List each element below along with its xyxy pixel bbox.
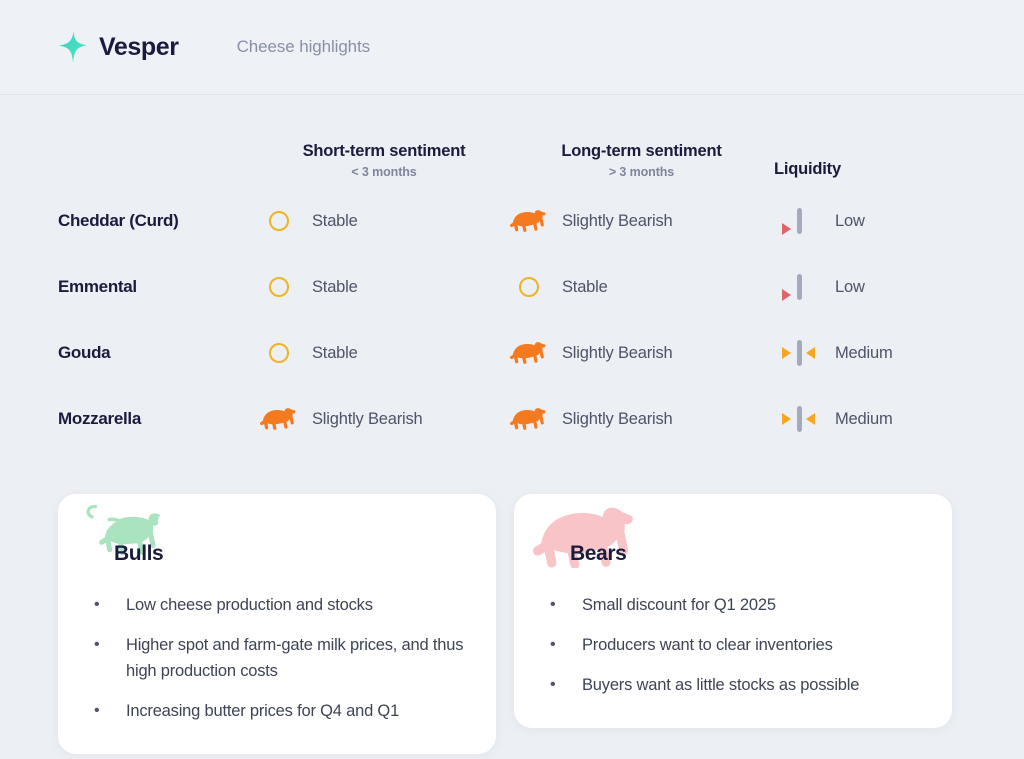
column-header-short-term: Short-term sentiment < 3 months	[259, 95, 509, 188]
bear-icon	[509, 403, 549, 435]
column-subtitle: < 3 months	[351, 165, 416, 179]
short-term-cell: Stable	[259, 320, 509, 386]
bears-card: Bears • Small discount for Q1 2025 • Pro…	[514, 494, 952, 728]
sentiment-label: Slightly Bearish	[562, 344, 673, 363]
sentiment-label: Slightly Bearish	[562, 410, 673, 429]
liquidity-cell: Low	[774, 188, 966, 254]
bear-icon	[509, 205, 549, 237]
bullet-marker: •	[544, 632, 582, 658]
product-name: Gouda	[58, 343, 110, 362]
bear-icon	[259, 403, 299, 435]
list-item-text: Low cheese production and stocks	[126, 592, 373, 618]
long-term-cell: Stable	[509, 254, 774, 320]
brand[interactable]: Vesper	[58, 31, 179, 63]
stable-circle-icon	[259, 271, 299, 303]
row-label-cell: Emmental	[58, 254, 259, 320]
liquidity-label: Low	[835, 278, 865, 297]
list-item-text: Producers want to clear inventories	[582, 632, 833, 658]
column-subtitle: > 3 months	[609, 165, 674, 179]
column-title: Long-term sentiment	[561, 142, 721, 161]
sentiment-label: Slightly Bearish	[562, 212, 673, 231]
brand-name: Vesper	[99, 33, 179, 62]
liquidity-cell: Medium	[774, 320, 966, 386]
bulls-list: • Low cheese production and stocks • Hig…	[88, 592, 466, 724]
list-item: • Producers want to clear inventories	[544, 632, 922, 658]
liquidity-low-icon	[774, 267, 822, 307]
bears-list: • Small discount for Q1 2025 • Producers…	[544, 592, 922, 698]
list-item-text: Increasing butter prices for Q4 and Q1	[126, 698, 399, 724]
liquidity-label: Medium	[835, 410, 893, 429]
stable-circle-icon	[509, 271, 549, 303]
product-name: Mozzarella	[58, 409, 141, 428]
stable-circle-icon	[259, 337, 299, 369]
short-term-cell: Stable	[259, 188, 509, 254]
list-item: • Low cheese production and stocks	[88, 592, 466, 618]
bulls-card: Bulls • Low cheese production and stocks…	[58, 494, 496, 754]
liquidity-low-icon	[774, 201, 822, 241]
main-content: Short-term sentiment < 3 months Long-ter…	[0, 95, 1024, 452]
bear-icon	[509, 337, 549, 369]
table-row: Gouda Stable Slightly Bearish	[58, 320, 966, 386]
sentiment-label: Slightly Bearish	[312, 410, 423, 429]
column-title: Liquidity	[774, 160, 841, 179]
list-item: • Small discount for Q1 2025	[544, 592, 922, 618]
card-title: Bulls	[88, 520, 466, 566]
page-subtitle: Cheese highlights	[237, 37, 370, 57]
bullet-marker: •	[544, 592, 582, 618]
liquidity-medium-icon	[774, 333, 822, 373]
list-item-text: Higher spot and farm-gate milk prices, a…	[126, 632, 466, 684]
long-term-cell: Slightly Bearish	[509, 320, 774, 386]
sentiment-matrix: Short-term sentiment < 3 months Long-ter…	[58, 95, 966, 452]
product-name: Cheddar (Curd)	[58, 211, 178, 230]
liquidity-label: Low	[835, 212, 865, 231]
sentiment-label: Stable	[312, 278, 358, 297]
short-term-cell: Stable	[259, 254, 509, 320]
product-name: Emmental	[58, 277, 137, 296]
list-item-text: Small discount for Q1 2025	[582, 592, 776, 618]
list-item-text: Buyers want as little stocks as possible	[582, 672, 859, 698]
column-header-liquidity: Liquidity	[774, 95, 966, 188]
column-header-product	[58, 95, 259, 188]
bullet-marker: •	[544, 672, 582, 698]
list-item: • Buyers want as little stocks as possib…	[544, 672, 922, 698]
bullet-marker: •	[88, 698, 126, 724]
bullet-marker: •	[88, 592, 126, 618]
liquidity-cell: Low	[774, 254, 966, 320]
matrix-header-row: Short-term sentiment < 3 months Long-ter…	[58, 95, 966, 188]
table-row: Emmental Stable Stable	[58, 254, 966, 320]
app-header: Vesper Cheese highlights	[0, 0, 1024, 95]
sentiment-label: Stable	[312, 344, 358, 363]
short-term-cell: Slightly Bearish	[259, 386, 509, 452]
row-label-cell: Mozzarella	[58, 386, 259, 452]
matrix-body: Cheddar (Curd) Stable Slightly Bearish	[58, 188, 966, 452]
sentiment-label: Stable	[312, 212, 358, 231]
list-item: • Increasing butter prices for Q4 and Q1	[88, 698, 466, 724]
liquidity-label: Medium	[835, 344, 893, 363]
table-row: Cheddar (Curd) Stable Slightly Bearish	[58, 188, 966, 254]
column-header-long-term: Long-term sentiment > 3 months	[509, 95, 774, 188]
liquidity-cell: Medium	[774, 386, 966, 452]
row-label-cell: Gouda	[58, 320, 259, 386]
sparkle-star-icon	[58, 31, 88, 63]
long-term-cell: Slightly Bearish	[509, 386, 774, 452]
row-label-cell: Cheddar (Curd)	[58, 188, 259, 254]
liquidity-medium-icon	[774, 399, 822, 439]
list-item: • Higher spot and farm-gate milk prices,…	[88, 632, 466, 684]
column-title: Short-term sentiment	[303, 142, 466, 161]
bullet-marker: •	[88, 632, 126, 658]
long-term-cell: Slightly Bearish	[509, 188, 774, 254]
sentiment-label: Stable	[562, 278, 608, 297]
summary-cards: Bulls • Low cheese production and stocks…	[0, 494, 1024, 754]
table-row: Mozzarella Slightly Bearish	[58, 386, 966, 452]
stable-circle-icon	[259, 205, 299, 237]
card-title: Bears	[544, 520, 922, 566]
